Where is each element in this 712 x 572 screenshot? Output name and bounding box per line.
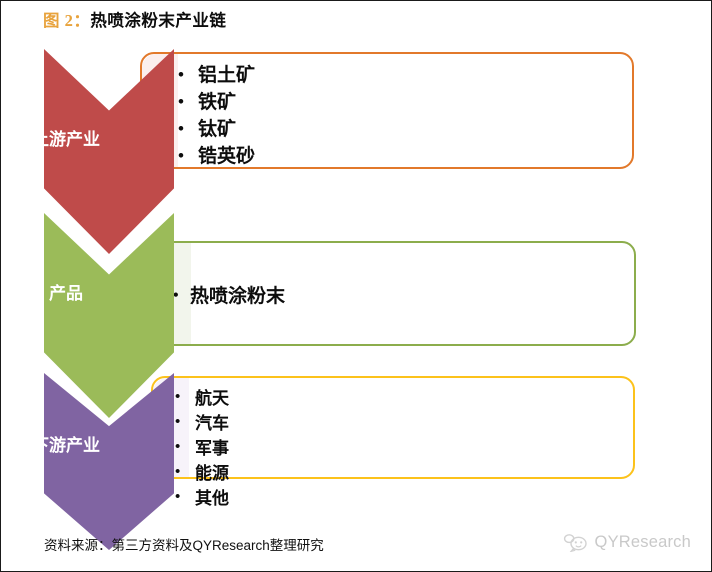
figure-container: 图 2：热喷涂粉末产业链 QYResearch 上游产业 产品 下游产业 铝土矿… [0,0,712,572]
brand-logo-text: QYResearch [595,532,691,552]
page-title: 图 2：热喷涂粉末产业链 [43,10,226,32]
stage-box-product: 热喷涂粉末 [153,241,636,346]
cloud-bubble-icon [563,532,589,552]
list-item: 航天 [175,386,633,411]
list-item: 铁矿 [178,89,632,116]
stage-box-upstream: 铝土矿 铁矿 钛矿 锆英砂 [140,52,634,169]
list-item: 锆英砂 [178,143,632,170]
list-item: 军事 [175,436,633,461]
source-note: 资料来源：第三方资料及QYResearch整理研究 [44,537,324,555]
list-item: 铝土矿 [178,62,632,89]
figure-number: 图 2： [43,11,90,30]
stage-item-list-product: 热喷涂粉末 [155,243,634,309]
list-item: 能源 [175,461,633,486]
list-item: 汽车 [175,411,633,436]
stage-item-list-upstream: 铝土矿 铁矿 钛矿 锆英砂 [142,54,632,170]
list-item: 热喷涂粉末 [173,285,634,309]
brand-logo: QYResearch [563,532,691,552]
list-item: 其他 [175,486,633,511]
stage-item-list-downstream: 航天 汽车 军事 能源 其他 [153,378,633,511]
stage-box-downstream: 航天 汽车 军事 能源 其他 [151,376,635,479]
figure-title-text: 热喷涂粉末产业链 [90,11,226,30]
stage-arrow-upstream [44,49,174,254]
list-item: 钛矿 [178,116,632,143]
